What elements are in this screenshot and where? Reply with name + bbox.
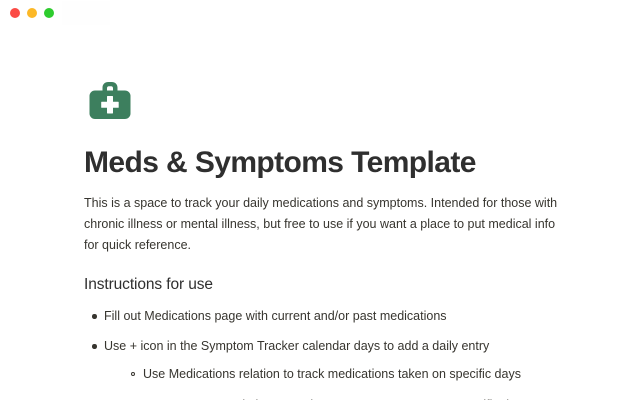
nested-list: Use Medications relation to track medica… — [104, 357, 580, 400]
nested-list-item[interactable]: Use Symptoms relation to track symptom o… — [123, 395, 580, 400]
page-title: Meds & Symptoms Template — [84, 126, 580, 181]
close-window-button[interactable] — [10, 8, 20, 18]
minimize-window-button[interactable] — [27, 8, 37, 18]
nested-list-item[interactable]: Use Medications relation to track medica… — [123, 364, 580, 385]
page-description: This is a space to track your daily medi… — [84, 181, 562, 256]
titlebar-placeholder — [62, 1, 110, 25]
app-window: Meds & Symptoms Template This is a space… — [0, 0, 640, 400]
page-body: Meds & Symptoms Template This is a space… — [0, 26, 640, 400]
list-item-label: Use + icon in the Symptom Tracker calend… — [104, 336, 580, 357]
page-content: Meds & Symptoms Template This is a space… — [0, 74, 640, 400]
nested-list-item-label: Use Medications relation to track medica… — [143, 364, 580, 385]
first-aid-kit-icon[interactable] — [84, 74, 136, 126]
instructions-list: Fill out Medications page with current a… — [84, 296, 580, 400]
nested-list-item-label: Use Symptoms relation to track symptom o… — [143, 395, 580, 400]
list-item-label: Fill out Medications page with current a… — [104, 306, 580, 327]
maximize-window-button[interactable] — [44, 8, 54, 18]
list-item[interactable]: Use + icon in the Symptom Tracker calend… — [84, 336, 580, 400]
window-titlebar — [0, 0, 640, 26]
traffic-light-controls — [10, 8, 54, 18]
instructions-heading: Instructions for use — [84, 256, 580, 296]
list-item[interactable]: Fill out Medications page with current a… — [84, 306, 580, 327]
